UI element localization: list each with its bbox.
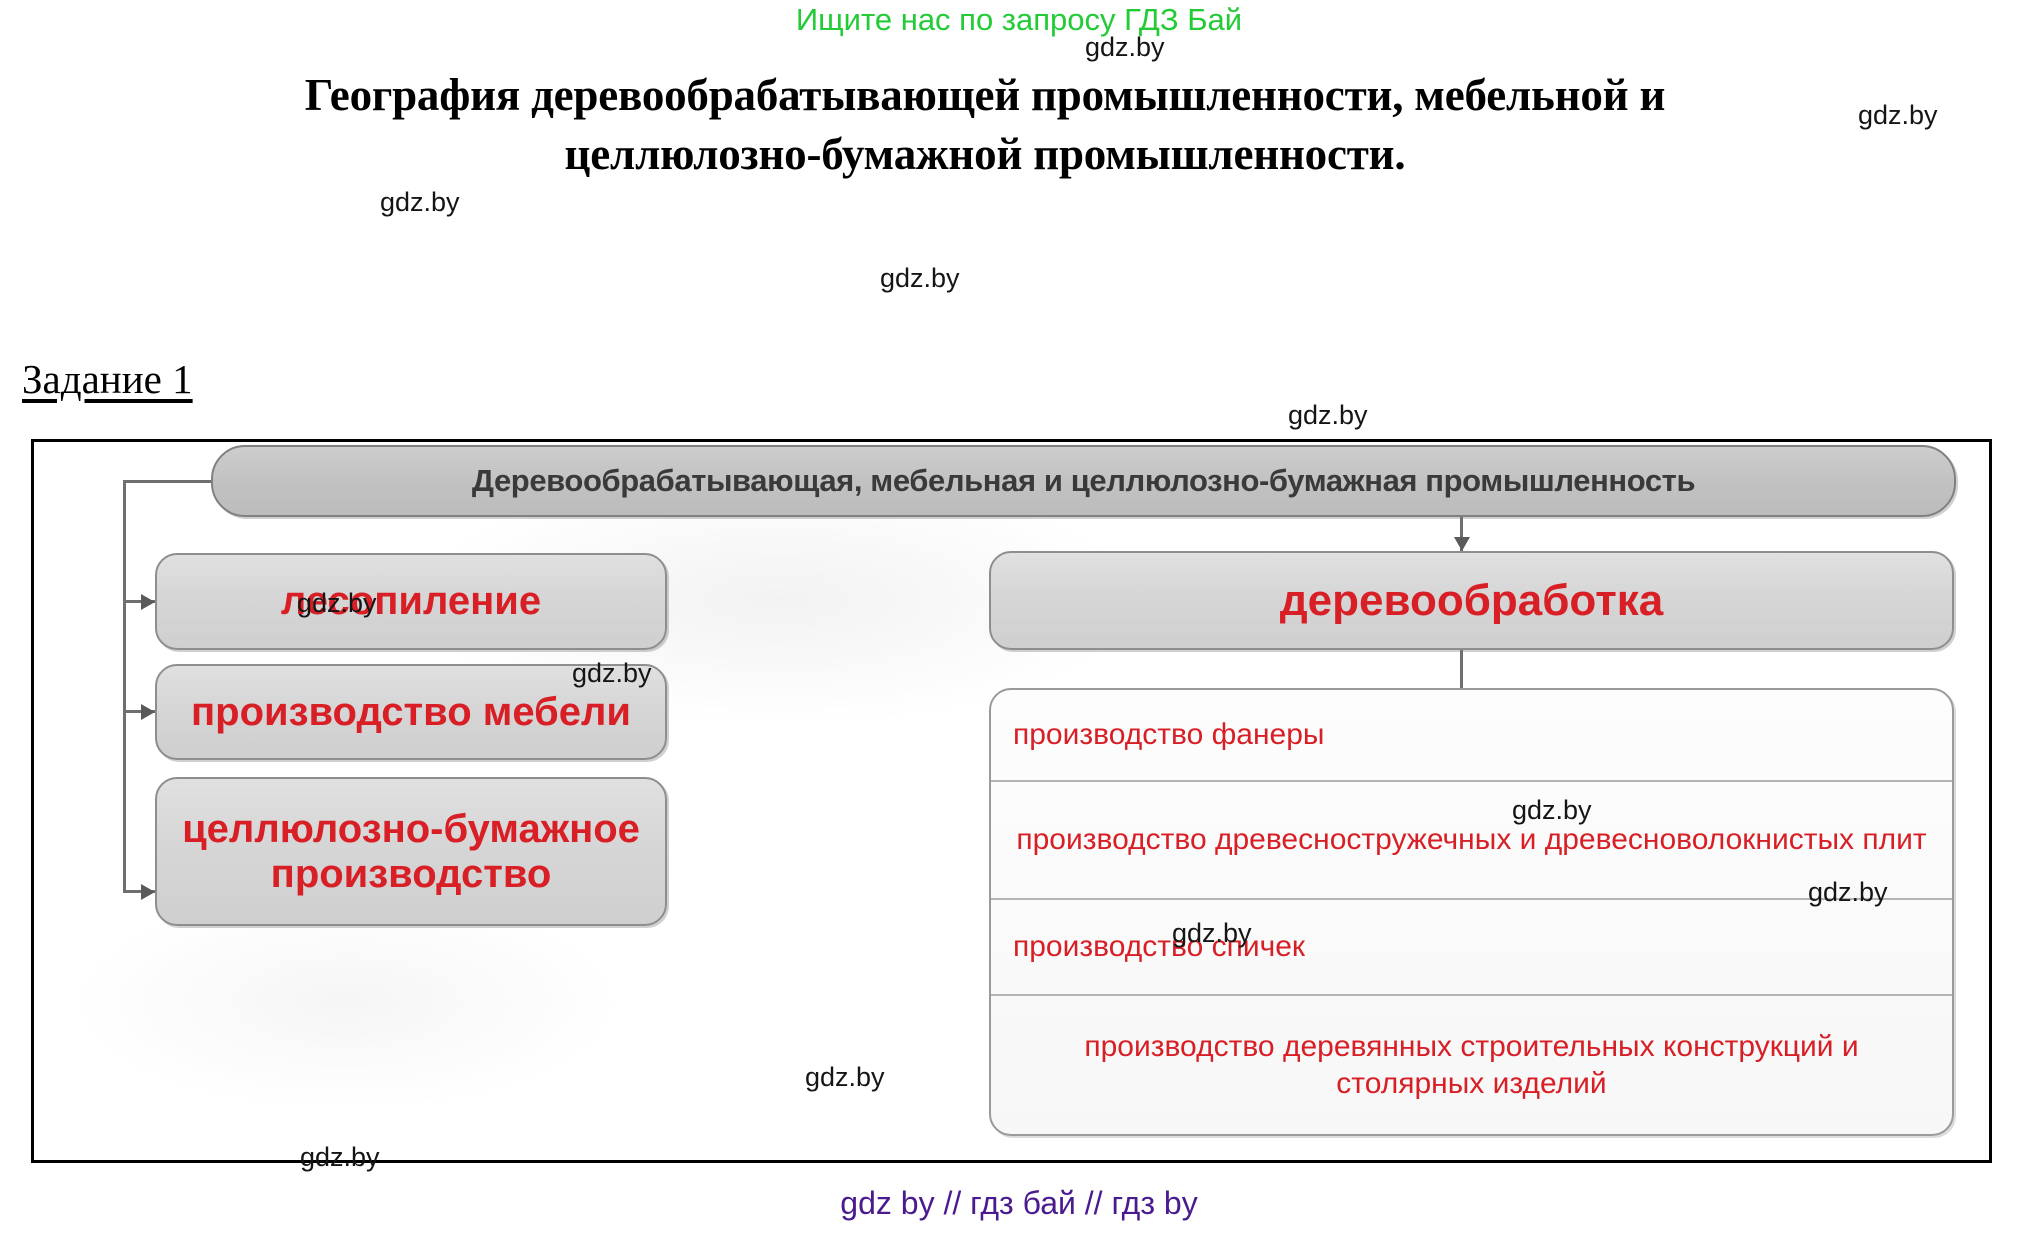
diagram-frame: Деревообрабатывающая, мебельная и целлюл… — [31, 439, 1992, 1163]
list-item: производство спичек — [991, 900, 1952, 996]
connector-left-trunk — [123, 480, 126, 893]
page-title: География деревообрабатывающей промышлен… — [90, 66, 1880, 185]
watermark-3: gdz.by — [880, 263, 960, 294]
arrow-head-icon-down — [1454, 537, 1470, 551]
arrow-head-icon-2 — [141, 704, 155, 720]
diagram-list-panel: производство фанеры производство древесн… — [989, 688, 1954, 1136]
watermark-4: gdz.by — [1288, 400, 1368, 431]
connector-banner-to-trunk — [123, 480, 213, 483]
arrow-head-icon-1 — [141, 594, 155, 610]
list-item-label: производство фанеры — [1013, 716, 1324, 754]
arrow-head-icon-3 — [141, 884, 155, 900]
list-item: производство древесностружечных и древес… — [991, 782, 1952, 900]
diagram-node-woodworking: деревообработка — [989, 551, 1954, 650]
promo-banner: Ищите нас по запросу ГДЗ Бай — [0, 2, 2038, 38]
diagram-node-sawmilling: лесопиление — [155, 553, 667, 650]
footer-links: gdz by // гдз бай // гдз by — [0, 1185, 2038, 1222]
diagram-node-label: производство мебели — [191, 690, 631, 735]
list-item-label: производство деревянных строительных кон… — [1013, 1028, 1930, 1103]
diagram-banner-node: Деревообрабатывающая, мебельная и целлюл… — [211, 445, 1956, 517]
connector-woodwork-to-list — [1460, 650, 1463, 688]
diagram-node-label: деревообработка — [1280, 576, 1664, 625]
list-item-label: производство спичек — [1013, 928, 1305, 966]
list-item: производство фанеры — [991, 690, 1952, 782]
list-item: производство деревянных строительных кон… — [991, 996, 1952, 1134]
diagram-node-furniture: производство мебели — [155, 664, 667, 760]
diagram-node-pulp-paper: целлюлозно-бумажное производство — [155, 777, 667, 926]
task-heading: Задание 1 — [22, 355, 193, 403]
diagram-node-label: целлюлозно-бумажное производство — [157, 807, 665, 897]
diagram-banner-label: Деревообрабатывающая, мебельная и целлюл… — [472, 464, 1695, 499]
page-title-line-1: География деревообрабатывающей промышлен… — [90, 66, 1880, 125]
diagram-node-label: лесопиление — [281, 579, 541, 624]
page-title-line-2: целлюлозно-бумажной промышленности. — [90, 125, 1880, 184]
list-item-label: производство древесностружечных и древес… — [1016, 821, 1926, 859]
watermark-2: gdz.by — [380, 187, 460, 218]
